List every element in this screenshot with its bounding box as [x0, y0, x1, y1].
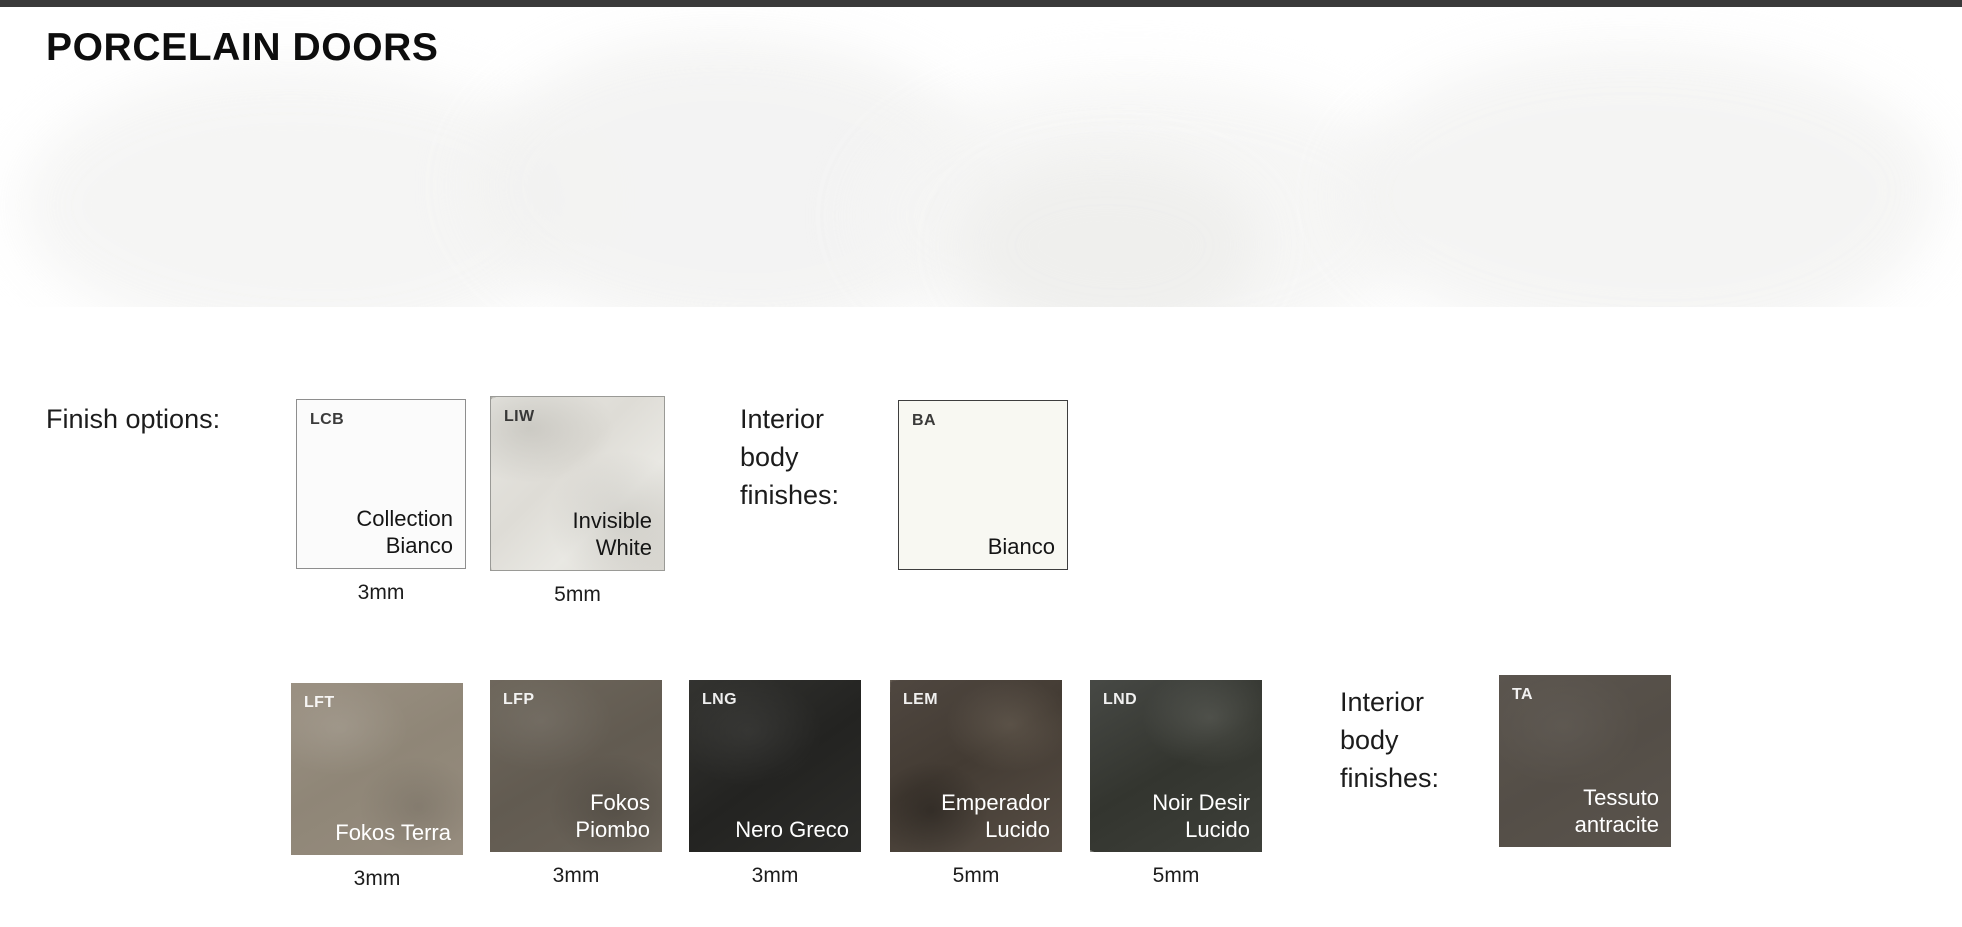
ghost-shape	[960, 157, 1260, 307]
swatch-group-lem[interactable]: LEM Emperador Lucido 5mm	[890, 680, 1062, 888]
swatch-code: LIW	[504, 408, 535, 426]
swatch-thickness: 5mm	[1090, 864, 1262, 888]
swatch-group-liw[interactable]: LIW Invisible White 5mm	[490, 396, 665, 607]
interior-body-finishes-label-row2: Interior body finishes:	[1340, 683, 1439, 797]
swatch-code: LCB	[310, 411, 344, 429]
swatch-name: Invisible White	[573, 507, 652, 561]
swatch-name: Emperador Lucido	[941, 789, 1050, 843]
swatch-group-lng[interactable]: LNG Nero Greco 3mm	[689, 680, 861, 888]
swatch-tile-lem[interactable]: LEM Emperador Lucido	[890, 680, 1062, 852]
swatch-thickness: 3mm	[296, 581, 466, 605]
ghost-shape	[470, 37, 990, 307]
swatch-tile-ta[interactable]: TA Tessuto antracite	[1499, 675, 1671, 847]
swatch-name: Nero Greco	[735, 816, 849, 843]
swatch-code: LNG	[702, 691, 737, 709]
ghost-shape	[20, 67, 580, 307]
swatch-thickness: 5mm	[490, 583, 665, 607]
swatch-code: LEM	[903, 691, 938, 709]
swatch-group-lfp[interactable]: LFP Fokos Piombo 3mm	[490, 680, 662, 888]
page-title: PORCELAIN DOORS	[46, 26, 439, 70]
swatch-name: Collection Bianco	[356, 505, 453, 559]
swatch-group-lnd[interactable]: LND Noir Desir Lucido 5mm	[1090, 680, 1262, 888]
swatch-name: Noir Desir Lucido	[1152, 789, 1250, 843]
swatch-code: TA	[1512, 686, 1533, 704]
swatch-tile-lfp[interactable]: LFP Fokos Piombo	[490, 680, 662, 852]
swatch-tile-lft[interactable]: LFT Fokos Terra	[291, 683, 463, 855]
swatch-group-lcb[interactable]: LCB Collection Bianco 3mm	[296, 399, 466, 605]
slide-canvas: PORCELAIN DOORS Finish options: LCB Coll…	[0, 0, 1962, 927]
swatch-group-ba[interactable]: BA Bianco	[898, 400, 1068, 570]
finish-options-label: Finish options:	[46, 400, 220, 438]
swatch-thickness: 3mm	[689, 864, 861, 888]
swatch-name: Tessuto antracite	[1575, 784, 1659, 838]
swatch-code: LFT	[304, 694, 335, 712]
swatch-name: Fokos Terra	[335, 819, 451, 846]
swatch-group-lft[interactable]: LFT Fokos Terra 3mm	[291, 683, 463, 891]
interior-body-finishes-label-row1: Interior body finishes:	[740, 400, 839, 514]
swatch-code: BA	[912, 412, 936, 430]
ghost-shape	[1340, 47, 1940, 307]
top-accent-bar	[0, 0, 1962, 7]
swatch-tile-lnd[interactable]: LND Noir Desir Lucido	[1090, 680, 1262, 852]
swatch-name: Bianco	[988, 533, 1055, 560]
ghost-shape	[860, 77, 1420, 307]
swatch-name: Fokos Piombo	[575, 789, 650, 843]
swatch-code: LND	[1103, 691, 1137, 709]
swatch-tile-ba[interactable]: BA Bianco	[898, 400, 1068, 570]
swatch-thickness: 3mm	[291, 867, 463, 891]
swatch-thickness: 5mm	[890, 864, 1062, 888]
swatch-tile-lng[interactable]: LNG Nero Greco	[689, 680, 861, 852]
swatch-tile-lcb[interactable]: LCB Collection Bianco	[296, 399, 466, 569]
swatch-tile-liw[interactable]: LIW Invisible White	[490, 396, 665, 571]
swatch-code: LFP	[503, 691, 534, 709]
swatch-group-ta[interactable]: TA Tessuto antracite	[1499, 675, 1671, 847]
swatch-thickness: 3mm	[490, 864, 662, 888]
